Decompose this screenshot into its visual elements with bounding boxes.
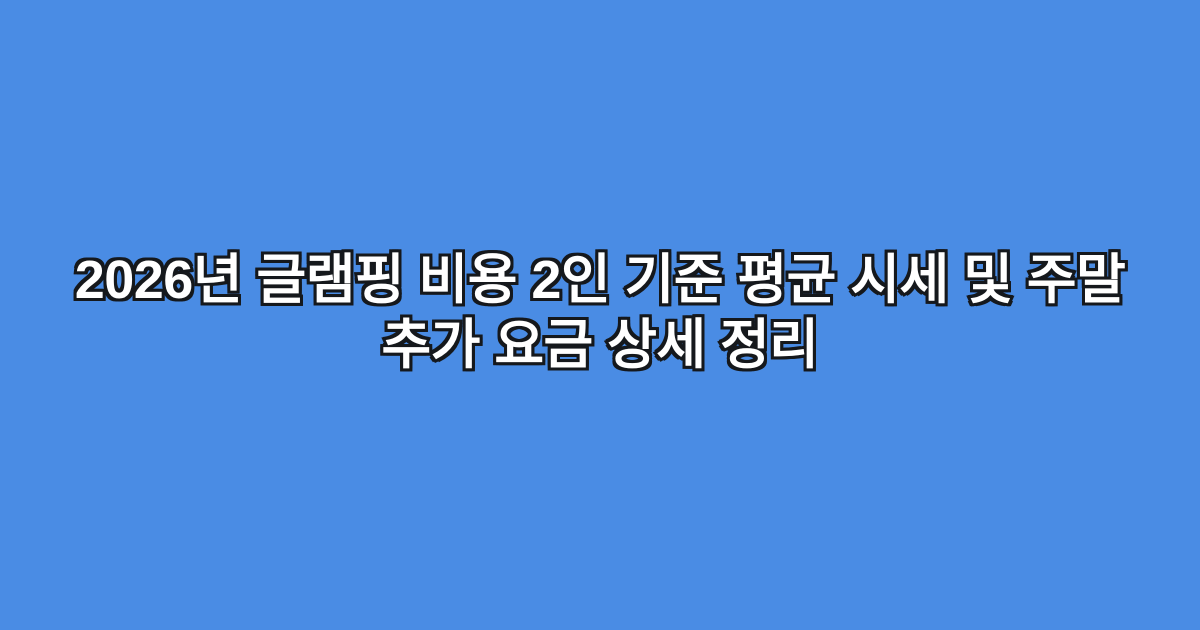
page-title: 2026년 글램핑 비용 2인 기준 평균 시세 및 주말 추가 요금 상세 정… xyxy=(40,248,1160,378)
thumbnail-card: 2026년 글램핑 비용 2인 기준 평균 시세 및 주말 추가 요금 상세 정… xyxy=(0,0,1200,630)
title-block: 2026년 글램핑 비용 2인 기준 평균 시세 및 주말 추가 요금 상세 정… xyxy=(40,248,1160,378)
